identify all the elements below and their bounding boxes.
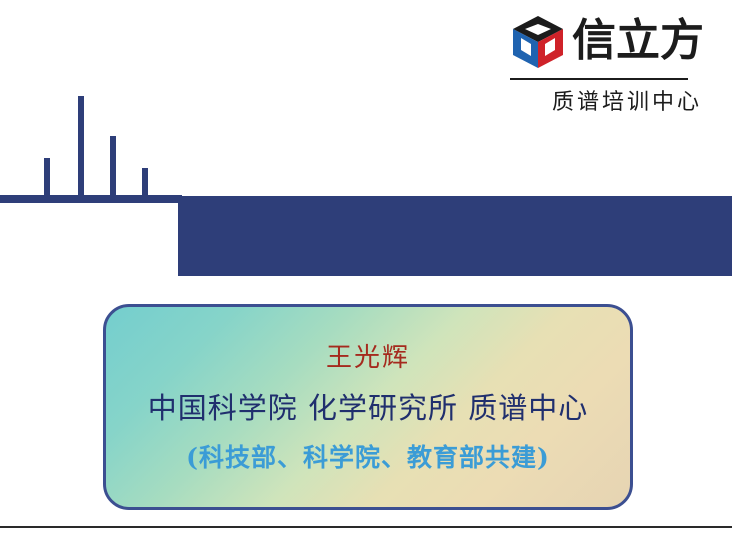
presenter-affiliation: (科技部、科学院、教育部共建) xyxy=(106,441,630,474)
spectrum-baseline xyxy=(0,195,182,203)
logo-divider xyxy=(510,78,688,80)
presentation-slide: 信立方 质谱培训中心 王光辉 中国科学院 化学研究所 质谱中心 (科技部、科学院… xyxy=(0,0,732,533)
brand-logo: 信立方 质谱培训中心 xyxy=(508,10,708,115)
mass-spectrum-decoration xyxy=(0,88,182,203)
presenter-organization: 中国科学院 化学研究所 质谱中心 xyxy=(106,389,630,427)
footer-divider xyxy=(0,526,732,528)
spectrum-peak xyxy=(78,96,84,196)
title-card: 王光辉 中国科学院 化学研究所 质谱中心 (科技部、科学院、教育部共建) xyxy=(103,304,633,510)
presenter-name: 王光辉 xyxy=(106,341,630,375)
logo-wordmark: 信立方 xyxy=(572,14,704,68)
spectrum-peak xyxy=(142,168,148,196)
logo-subtitle: 质谱培训中心 xyxy=(552,84,702,116)
logo-top-row: 信立方 xyxy=(508,10,708,72)
spectrum-peak xyxy=(44,158,50,196)
navy-banner-band xyxy=(178,196,732,276)
spectrum-peak xyxy=(110,136,116,196)
cube-logo-icon xyxy=(510,14,566,70)
